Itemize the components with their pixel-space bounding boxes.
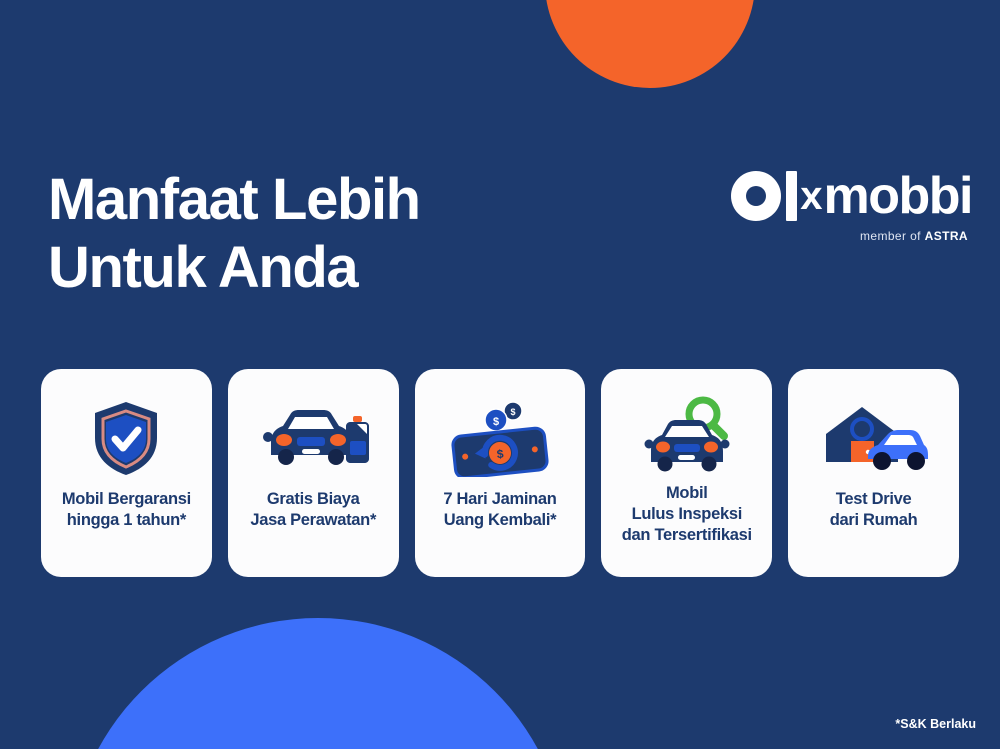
- page-title: Manfaat Lebih Untuk Anda: [48, 166, 420, 303]
- benefit-label: 7 Hari Jaminan Uang Kembali*: [443, 489, 556, 531]
- benefit-card-warranty[interactable]: Mobil Bergaransi hingga 1 tahun*: [41, 369, 212, 577]
- benefit-label: Mobil Bergaransi hingga 1 tahun*: [62, 489, 191, 531]
- logo-member-brand: ASTRA: [925, 229, 968, 243]
- benefit-label: Test Drive dari Rumah: [830, 489, 918, 531]
- logo-member-prefix: member of: [860, 229, 925, 243]
- car-oil-icon: [257, 395, 369, 481]
- car-inspection-icon: [641, 395, 733, 475]
- logo-wordmark: x mobbi: [731, 168, 972, 224]
- logo-o-icon: [731, 171, 781, 221]
- decorative-orange-circle: [545, 0, 755, 88]
- logo-bar-icon: [786, 171, 797, 221]
- money-refund-icon: $ $ $: [445, 395, 555, 481]
- benefits-card-row: Mobil Bergaransi hingga 1 tahun*: [41, 369, 959, 577]
- benefit-card-home-test-drive[interactable]: Test Drive dari Rumah: [788, 369, 959, 577]
- logo-x-letter: x: [800, 176, 822, 216]
- benefit-card-inspected[interactable]: Mobil Lulus Inspeksi dan Tersertifikasi: [601, 369, 772, 577]
- svg-text:$: $: [493, 416, 499, 428]
- benefit-label: Gratis Biaya Jasa Perawatan*: [250, 489, 376, 531]
- brand-logo: x mobbi member of ASTRA: [731, 168, 972, 243]
- benefit-card-money-back[interactable]: $ $ $ 7 Hari Jaminan Uang Kembali*: [415, 369, 586, 577]
- terms-footnote: *S&K Berlaku: [895, 717, 976, 731]
- benefit-label: Mobil Lulus Inspeksi dan Tersertifikasi: [622, 483, 752, 546]
- logo-mobbi-text: mobbi: [824, 170, 972, 222]
- decorative-blue-circle: [68, 618, 568, 749]
- promo-banner: Manfaat Lebih Untuk Anda x mobbi member …: [0, 0, 1000, 749]
- svg-text:$: $: [510, 407, 515, 417]
- shield-check-icon: [89, 395, 163, 481]
- logo-member-line: member of ASTRA: [731, 229, 972, 243]
- benefit-card-free-service[interactable]: Gratis Biaya Jasa Perawatan*: [228, 369, 399, 577]
- house-car-icon: [818, 395, 930, 481]
